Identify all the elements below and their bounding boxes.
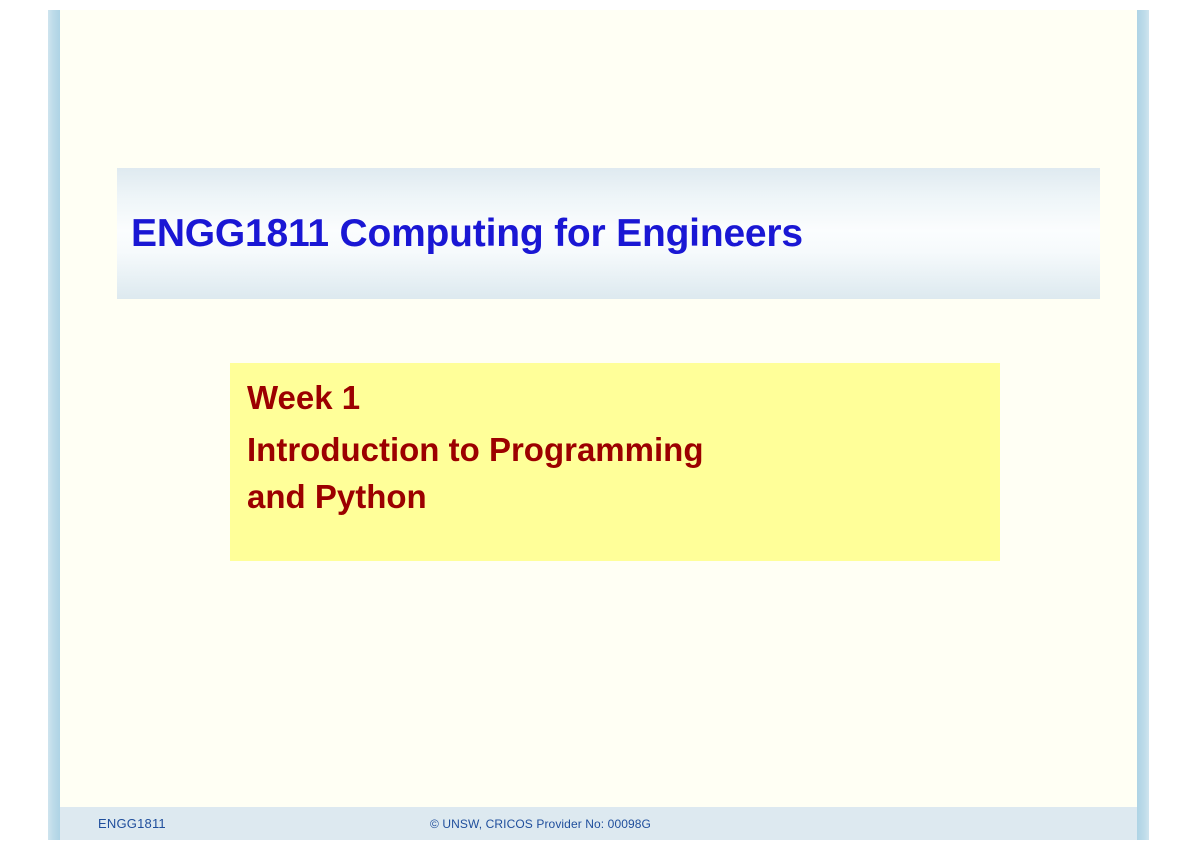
content-line-week: Week 1 [247,381,360,416]
title-banner: ENGG1811 Computing for Engineers [117,168,1100,299]
slide-edge-bar-left [48,10,60,840]
slide-canvas: ENGG1811 Computing for Engineers Week 1 … [60,10,1137,840]
slide-edge-bar-right [1137,10,1149,840]
slide-footer: ENGG1811 © UNSW, CRICOS Provider No: 000… [60,807,1137,840]
slide-title: ENGG1811 Computing for Engineers [131,214,803,253]
content-highlight-box: Week 1 Introduction to Programming and P… [230,363,1000,561]
content-line-topic-2: and Python [247,480,427,515]
footer-course-code: ENGG1811 [98,816,166,831]
content-line-topic-1: Introduction to Programming [247,433,703,468]
slide-root: ENGG1811 Computing for Engineers Week 1 … [48,10,1148,840]
footer-copyright: © UNSW, CRICOS Provider No: 00098G [430,817,651,831]
